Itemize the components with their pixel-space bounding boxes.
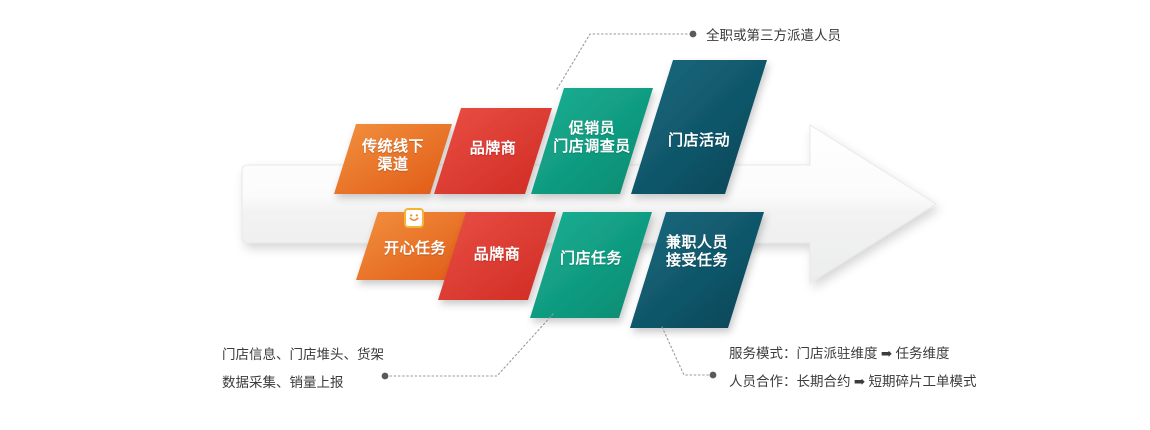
smiley-face-glyph — [408, 213, 420, 223]
top-step-4-label: 门店活动 — [631, 132, 767, 150]
smiley-icon — [404, 208, 424, 228]
top-step-4-shape — [631, 60, 767, 194]
top-step-4: 门店活动 — [631, 60, 767, 194]
bottom-left-note: 门店信息、门店堆头、货架 数据采集、销量上报 — [222, 341, 384, 397]
bottom-right-note: 服务模式：门店派驻维度 ➡ 任务维度 人员合作：长期合约 ➡ 短期碎片工单模式 — [729, 340, 977, 396]
connector-bottom-right — [662, 327, 710, 375]
diagram-canvas: 传统线下 渠道 品牌商 — [0, 0, 1150, 430]
connector-bottom-left — [388, 314, 553, 376]
connector-dot-bottom-right — [710, 372, 717, 379]
bottom-step-4: 兼职人员 接受任务 — [630, 212, 764, 328]
bottom-step-4-label: 兼职人员 接受任务 — [630, 234, 764, 271]
connector-dot-top-right — [690, 31, 697, 38]
top-right-note: 全职或第三方派遣人员 — [706, 22, 841, 50]
